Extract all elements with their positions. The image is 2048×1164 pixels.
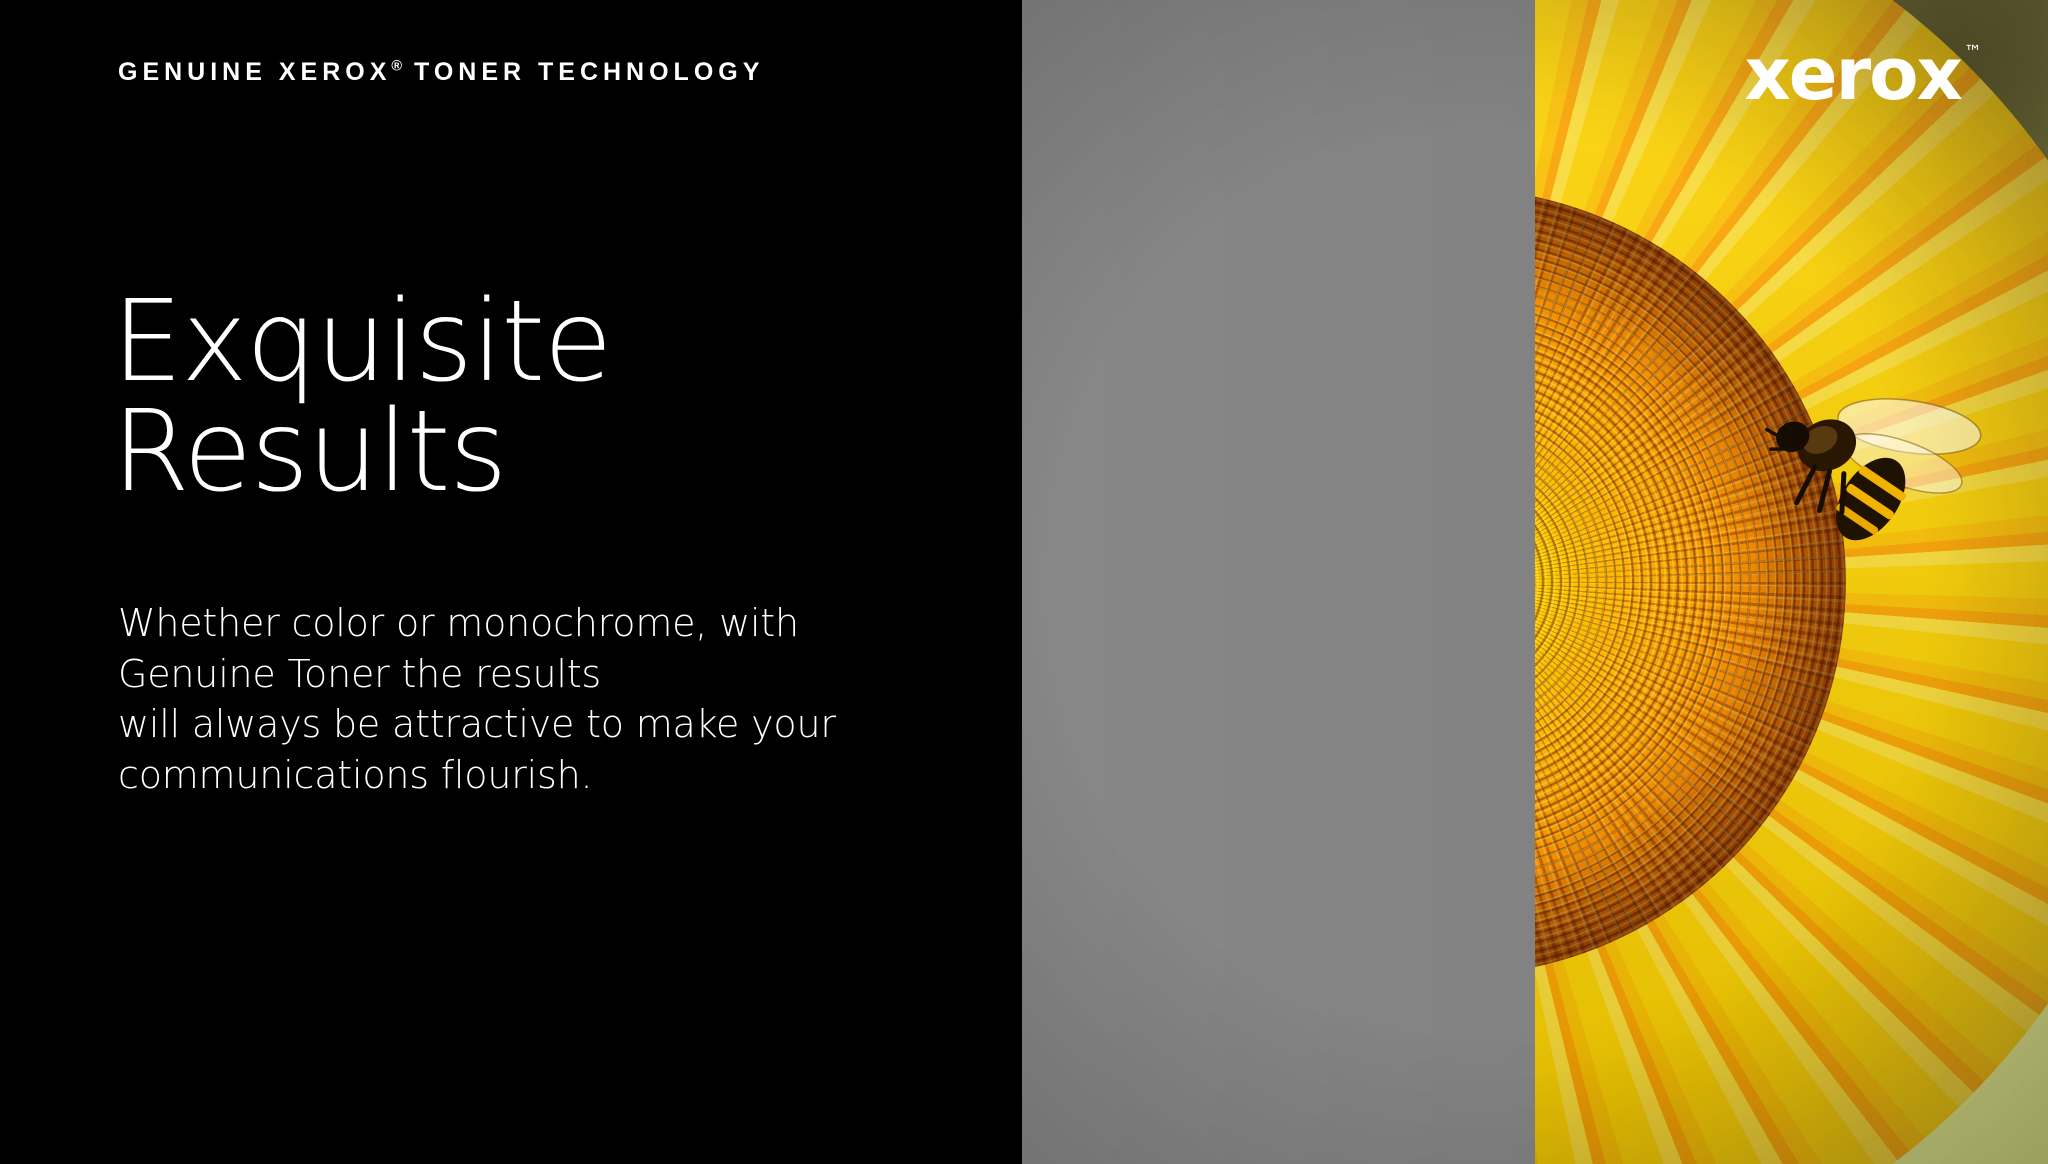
page-title: Exquisite Results: [112, 288, 611, 508]
eyebrow-text-post: TONER TECHNOLOGY: [402, 58, 764, 86]
trademark-symbol: ™: [1964, 44, 1982, 62]
body-line-3: will always be attractive to make your: [118, 699, 836, 750]
xerox-wordmark: xerox: [1744, 38, 1961, 110]
photo-inner: [1022, 0, 2048, 1164]
body-line-4: communications flourish.: [118, 750, 836, 801]
hero-photo-sunflower: xerox ™: [1022, 0, 2048, 1164]
headline-line-2: Results: [112, 398, 611, 508]
registered-mark: ®: [391, 59, 402, 75]
left-content-panel: GENUINE XEROX® TONER TECHNOLOGY Exquisit…: [0, 0, 1022, 1164]
monochrome-filter-layer: [1022, 0, 1535, 1164]
body-line-1: Whether color or monochrome, with: [118, 598, 836, 649]
headline-line-1: Exquisite: [112, 288, 611, 398]
xerox-logo: xerox ™: [1744, 38, 1982, 110]
slide-canvas: xerox ™ GENUINE XEROX® TONER TECHNOLOGY …: [0, 0, 2048, 1164]
photo-monochrome-half: [1022, 0, 1535, 1164]
body-paragraph: Whether color or monochrome, with Genuin…: [118, 598, 836, 800]
eyebrow-text-pre: GENUINE XEROX: [118, 58, 391, 86]
body-line-2: Genuine Toner the results: [118, 649, 836, 700]
eyebrow-kicker: GENUINE XEROX® TONER TECHNOLOGY: [118, 58, 764, 87]
